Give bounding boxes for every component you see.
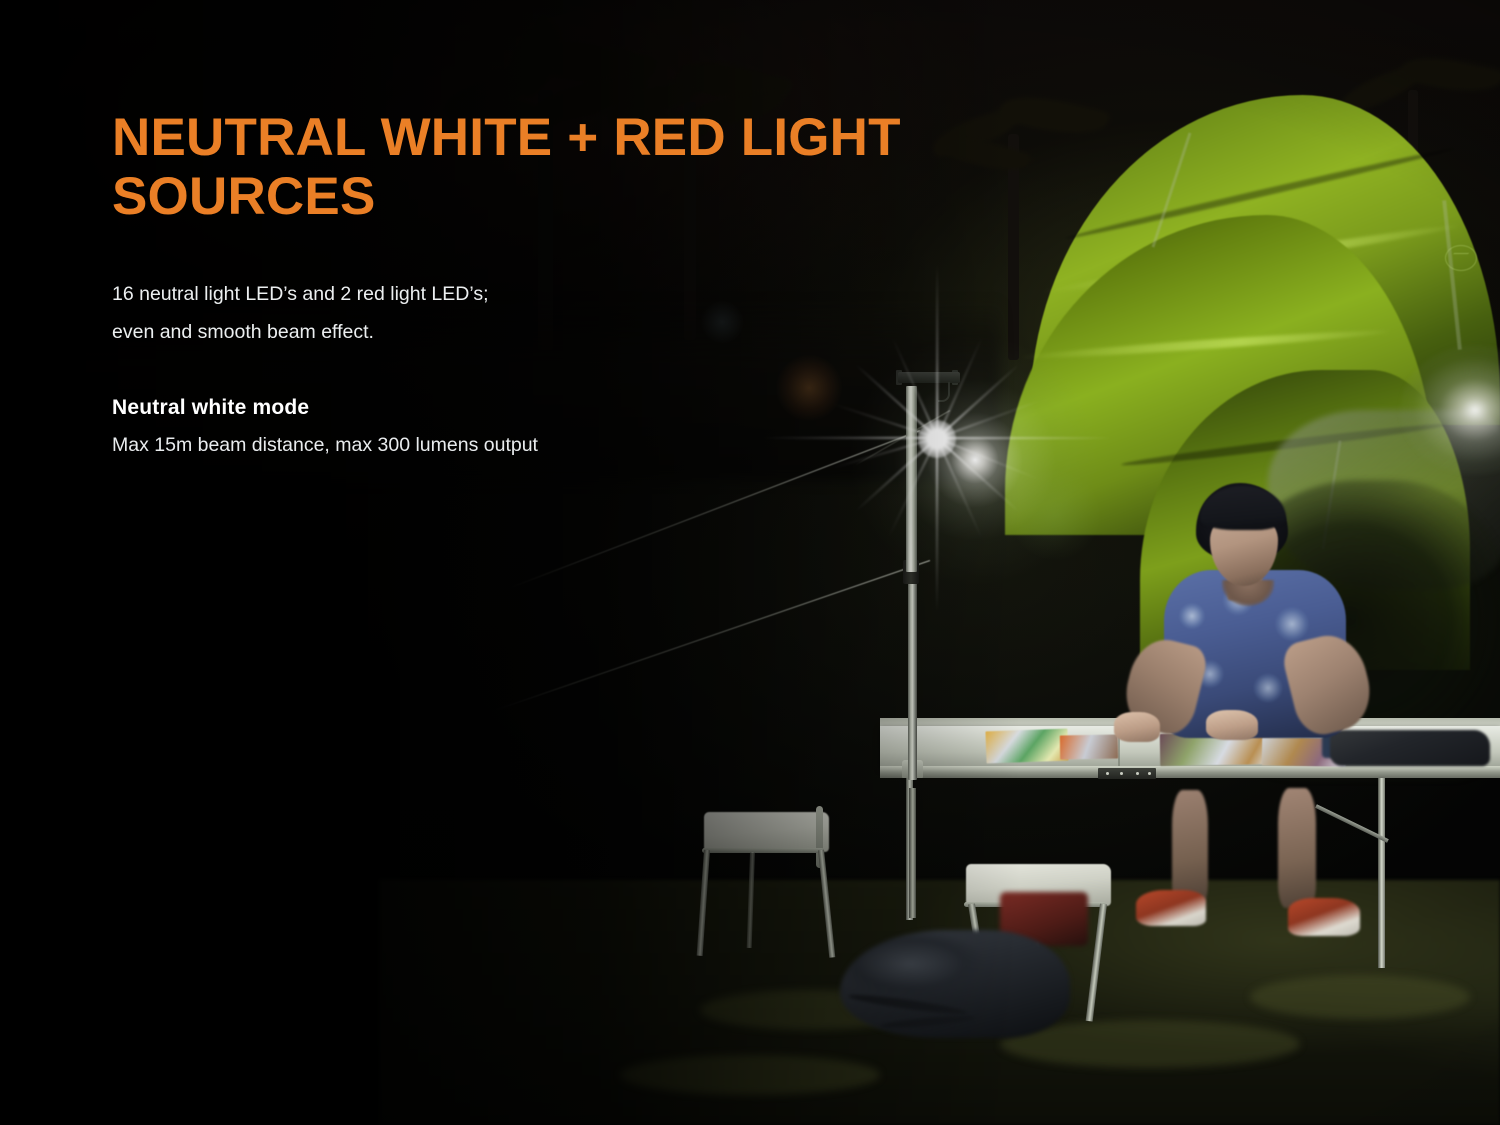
person-hand-left (1114, 712, 1160, 742)
page-title: NEUTRAL WHITE + RED LIGHT SOURCES (112, 108, 942, 227)
stool-front-rail (702, 848, 824, 853)
person-leg-left (1172, 790, 1208, 906)
person-hand-right (1206, 710, 1258, 740)
mode-section: Neutral white mode Max 15m beam distance… (112, 396, 942, 457)
person-leg-right (1278, 788, 1316, 908)
feature-description: 16 neutral light LED’s and 2 red light L… (112, 275, 942, 351)
lantern-pole-below-table (909, 788, 916, 918)
person-shoe-right (1288, 898, 1360, 936)
slide-text-content: NEUTRAL WHITE + RED LIGHT SOURCES 16 neu… (112, 108, 942, 457)
stool-leg (1086, 904, 1107, 1022)
lantern-pole-lower-section (908, 580, 917, 780)
lantern-ray (937, 437, 1112, 439)
feature-description-line-2: even and smooth beam effect. (112, 313, 942, 351)
feature-description-line-1: 16 neutral light LED’s and 2 red light L… (112, 275, 942, 313)
stool-leg (747, 852, 755, 948)
stool-seat (704, 812, 829, 852)
person-shoe-left (1136, 890, 1206, 926)
stool-leg (818, 850, 835, 958)
mode-title: Neutral white mode (112, 396, 942, 420)
slide-canvas: NEUTRAL WHITE + RED LIGHT SOURCES 16 neu… (0, 0, 1500, 1125)
mode-description: Max 15m beam distance, max 300 lumens ou… (112, 434, 942, 457)
stool-leg (697, 850, 710, 956)
lantern-ray (936, 438, 938, 613)
folding-stool-left (690, 800, 850, 960)
